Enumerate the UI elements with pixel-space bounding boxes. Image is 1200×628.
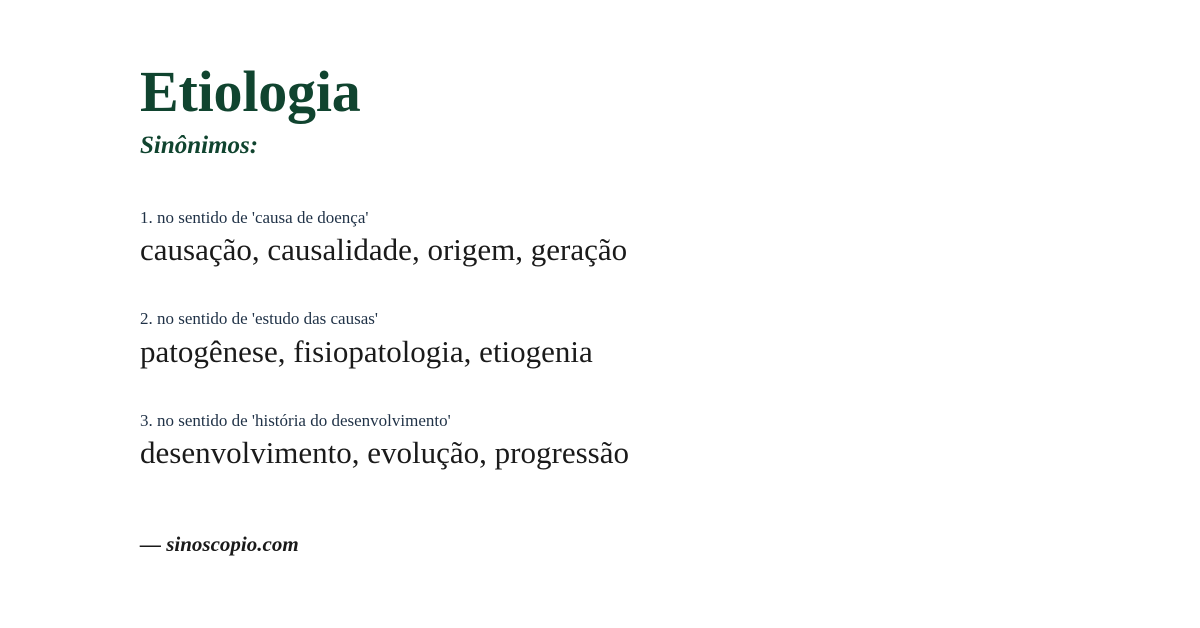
subtitle-synonyms: Sinônimos: (140, 133, 258, 158)
sense-synonyms: causação, causalidade, origem, geração (140, 231, 1140, 268)
sense-entry: 1. no sentido de 'causa de doença' causa… (140, 207, 1140, 268)
sense-label: 1. no sentido de 'causa de doença' (140, 207, 1140, 228)
sense-entry: 3. no sentido de 'história do desenvolvi… (140, 410, 1140, 471)
sense-list: 1. no sentido de 'causa de doença' causa… (140, 207, 1140, 471)
sense-entry: 2. no sentido de 'estudo das causas' pat… (140, 308, 1140, 369)
page-title: Etiologia (140, 63, 361, 121)
sense-synonyms: patogênese, fisiopatologia, etiogenia (140, 333, 1140, 370)
sense-label: 3. no sentido de 'história do desenvolvi… (140, 410, 1140, 431)
sense-label: 2. no sentido de 'estudo das causas' (140, 308, 1140, 329)
sense-synonyms: desenvolvimento, evolução, progressão (140, 434, 1140, 471)
source-attribution: — sinoscopio.com (140, 534, 299, 555)
synonym-card: Etiologia Sinônimos: 1. no sentido de 'c… (0, 0, 1200, 628)
